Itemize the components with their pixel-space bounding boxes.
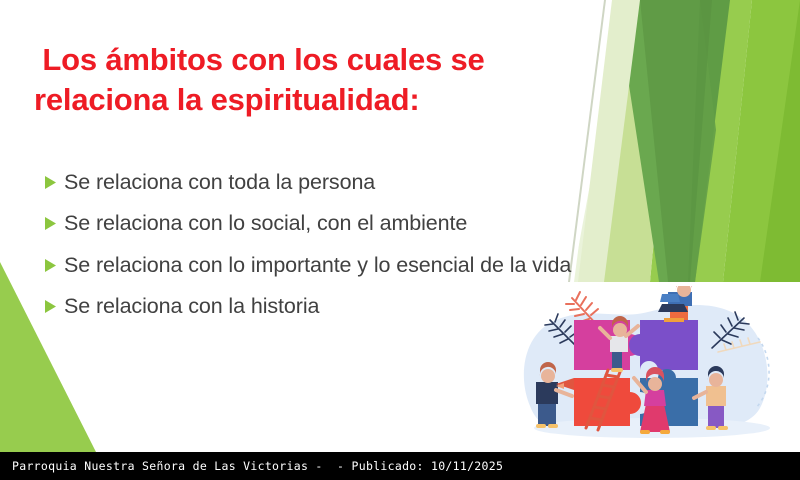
list-item-label: Se relaciona con toda la persona [64,168,624,196]
list-item: Se relaciona con lo importante y lo esen… [44,251,624,279]
teamwork-puzzle-illustration [512,286,800,452]
slide-title: Los ámbitos con los cuales se relaciona … [34,40,564,121]
presentation-slide: Los ámbitos con los cuales se relaciona … [0,0,800,480]
list-item-label: Se relaciona con lo importante y lo esen… [64,251,624,279]
triangle-right-bullet-icon [44,258,57,273]
list-item-label: Se relaciona con lo social, con el ambie… [64,209,624,237]
list-item: Se relaciona con toda la persona [44,168,624,196]
footer-bar: Parroquia Nuestra Señora de Las Victoria… [0,452,800,480]
list-item: Se relaciona con lo social, con el ambie… [44,209,624,237]
triangle-right-bullet-icon [44,175,57,190]
triangle-right-bullet-icon [44,216,57,231]
footer-caption: Parroquia Nuestra Señora de Las Victoria… [0,459,503,473]
triangle-right-bullet-icon [44,299,57,314]
